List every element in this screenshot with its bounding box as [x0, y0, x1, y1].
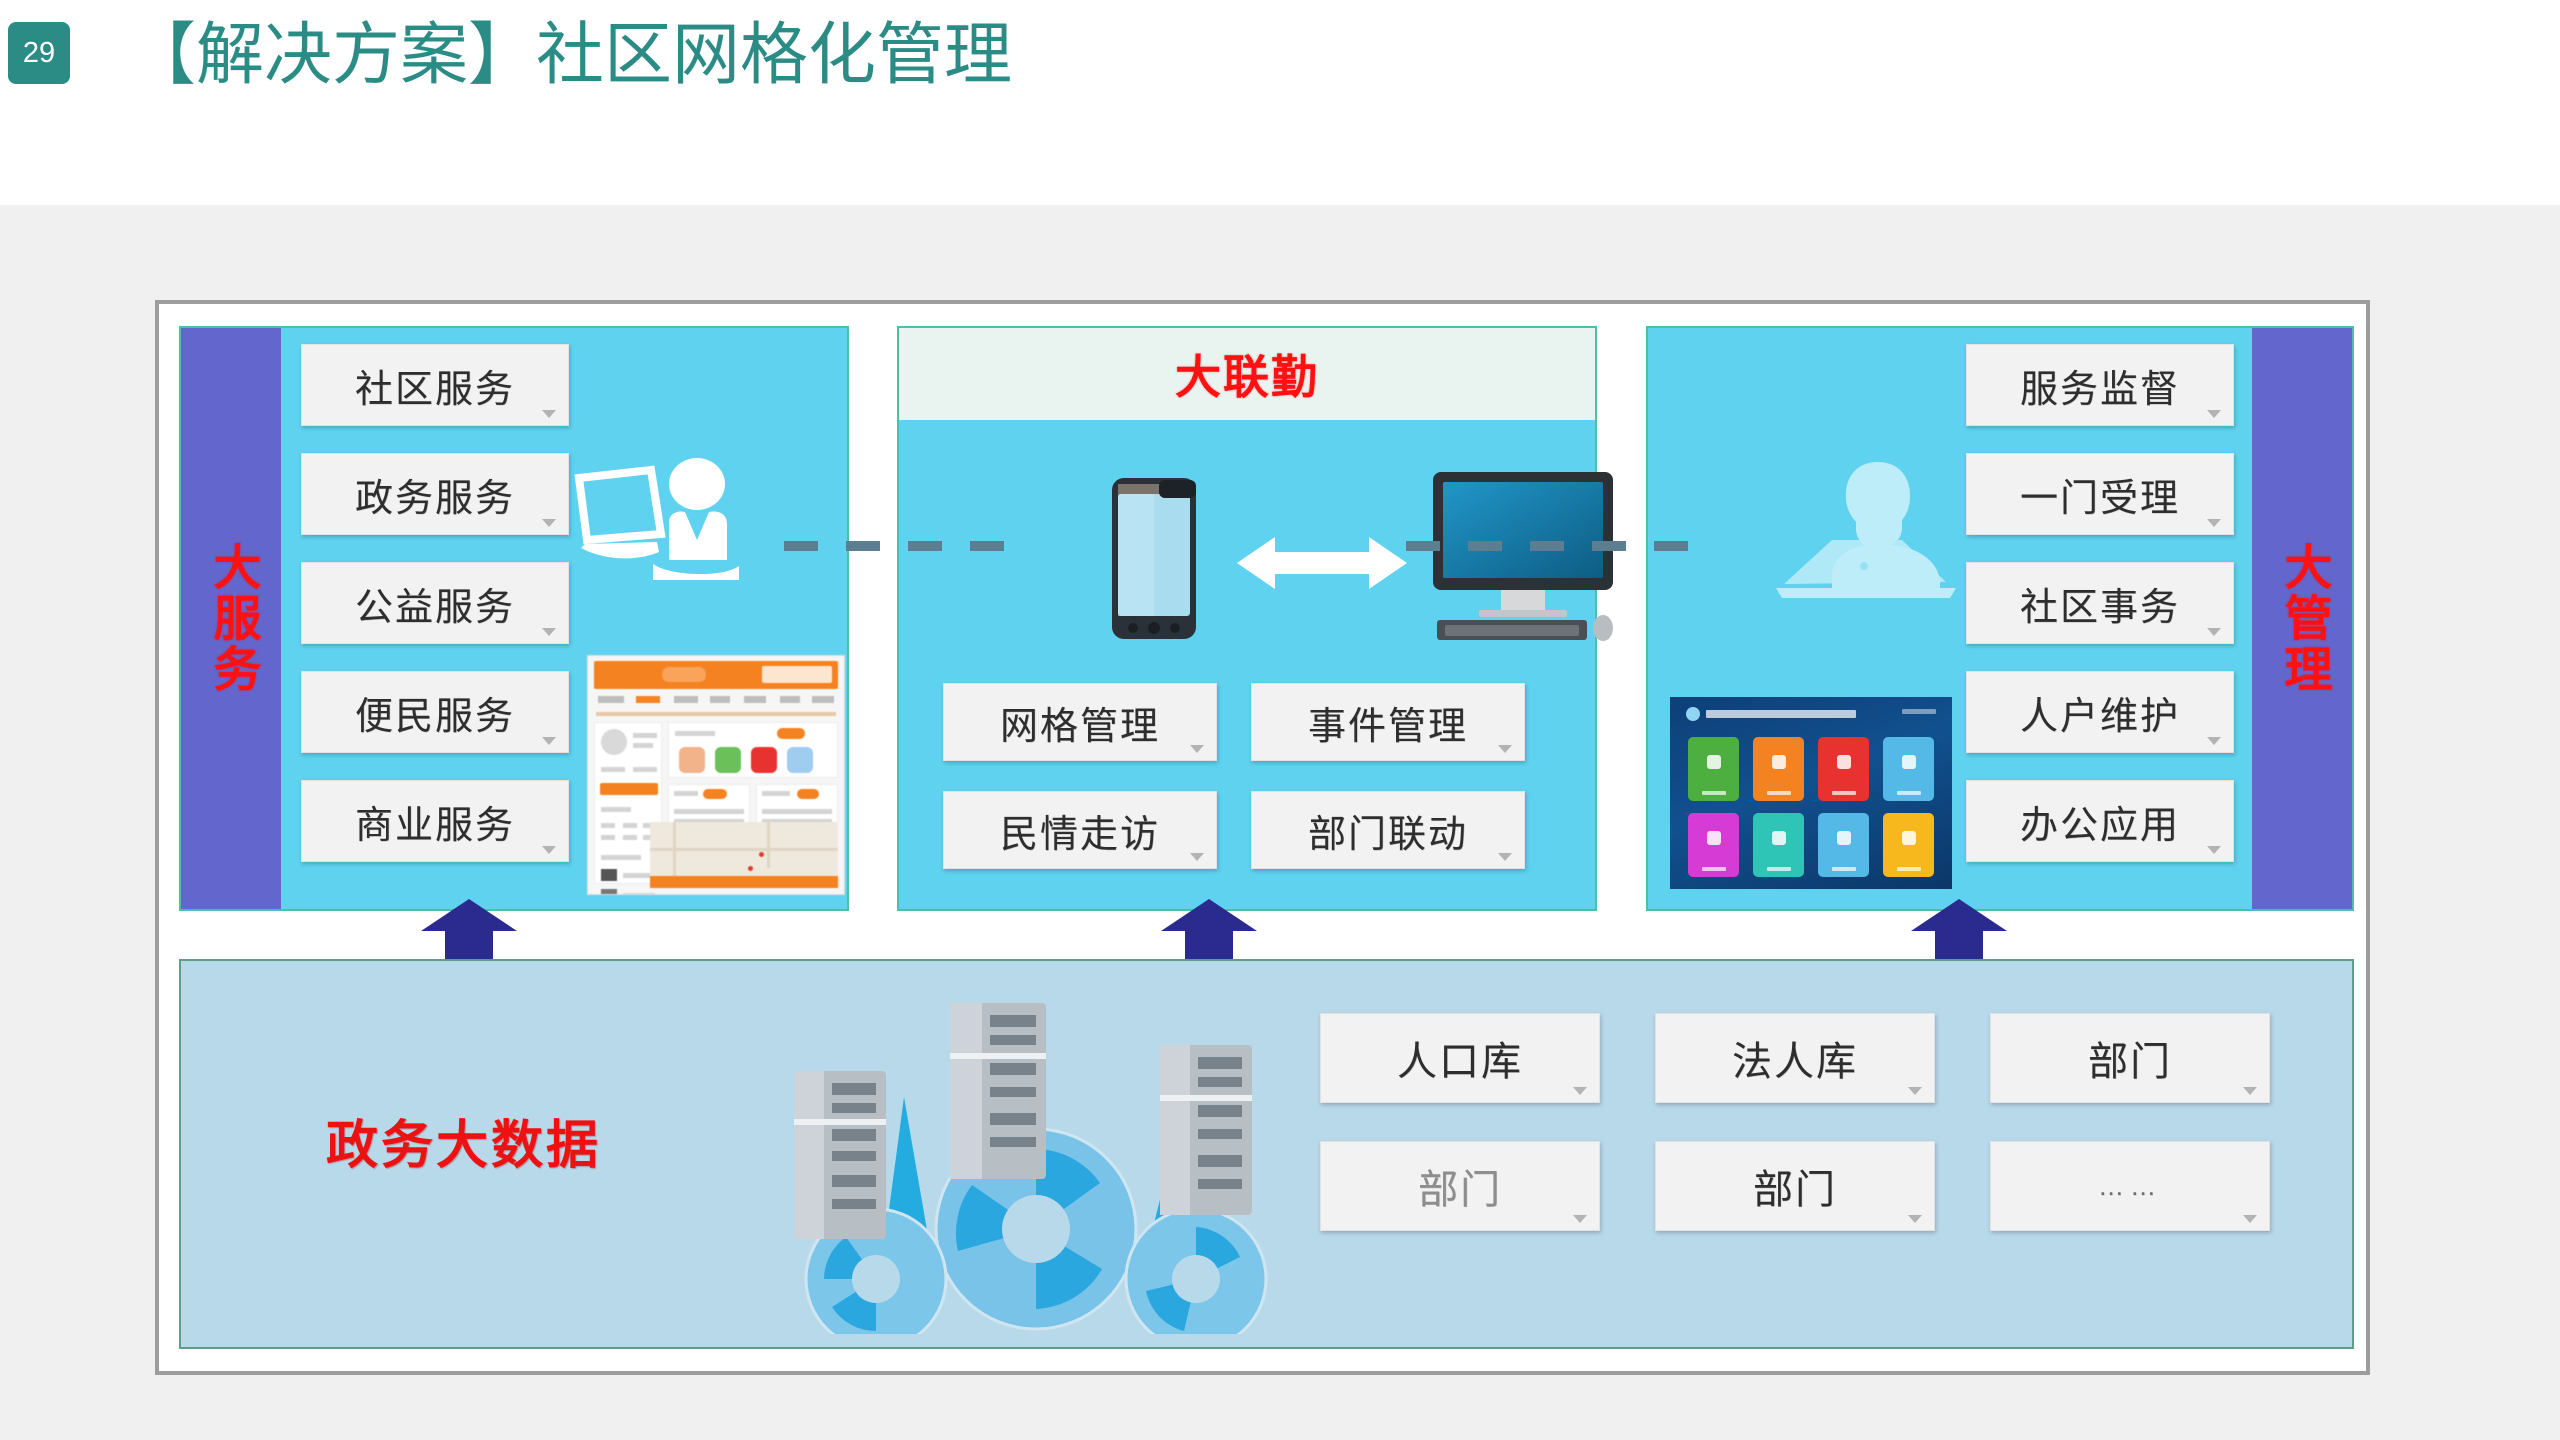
big-service-item-list: 社区服务 政务服务 公益服务 便民服务 商业服务	[301, 344, 569, 889]
management-item-service-supervision-label: 服务监督	[2020, 358, 2180, 413]
db-item-department-2[interactable]: 部门	[1320, 1141, 1600, 1231]
joint-duty-header-band: 大联勤	[899, 328, 1595, 420]
slide-number-badge: 29	[8, 22, 70, 84]
dashed-connector-left	[784, 541, 1014, 551]
smartphone-icon	[1109, 476, 1199, 641]
joint-duty-item-dept-coordination[interactable]: 部门联动	[1251, 791, 1525, 869]
chevron-down-icon	[1498, 745, 1512, 753]
chevron-down-icon	[1908, 1087, 1922, 1095]
slide-number: 29	[23, 37, 55, 70]
service-item-government[interactable]: 政务服务	[301, 453, 569, 535]
big-service-label: 大服务	[206, 542, 257, 695]
big-management-label: 大管理	[2277, 542, 2328, 695]
diagram-canvas: 大服务 社区服务 政务服务 公益服务 便民服务 商业服务	[159, 304, 2366, 1371]
desktop-computer-icon	[1423, 470, 1623, 645]
db-item-more[interactable]: ……	[1990, 1141, 2270, 1231]
db-item-department-2-label: 部门	[1418, 1157, 1502, 1215]
management-item-service-supervision[interactable]: 服务监督	[1966, 344, 2234, 426]
management-item-community-affairs[interactable]: 社区事务	[1966, 562, 2234, 644]
db-item-population[interactable]: 人口库	[1320, 1013, 1600, 1103]
db-item-population-label: 人口库	[1397, 1029, 1523, 1087]
diagram-frame: 大服务 社区服务 政务服务 公益服务 便民服务 商业服务	[155, 300, 2370, 1375]
big-service-side-bar: 大服务	[181, 328, 281, 909]
chevron-down-icon	[1190, 853, 1204, 861]
db-item-legal-entity-label: 法人库	[1732, 1029, 1858, 1087]
service-item-public-welfare-label: 公益服务	[355, 576, 515, 631]
chevron-down-icon	[542, 846, 556, 854]
service-item-community-label: 社区服务	[355, 358, 515, 413]
app-tile	[1883, 813, 1934, 877]
service-item-government-label: 政务服务	[355, 467, 515, 522]
joint-duty-item-grid-management[interactable]: 网格管理	[943, 683, 1217, 761]
management-item-office-application[interactable]: 办公应用	[1966, 780, 2234, 862]
app-tile	[1753, 737, 1804, 801]
db-item-department-3-label: 部门	[1753, 1157, 1837, 1215]
database-grid: 人口库 法人库 部门 部门 部门 ……	[1320, 1013, 2300, 1231]
dashed-connector-right	[1406, 541, 1696, 551]
app-tile	[1818, 813, 1869, 877]
management-item-one-door-acceptance-label: 一门受理	[2020, 467, 2180, 522]
service-item-convenience-label: 便民服务	[355, 685, 515, 740]
chevron-down-icon	[2243, 1215, 2257, 1223]
joint-duty-label: 大联勤	[1175, 341, 1319, 407]
db-item-legal-entity[interactable]: 法人库	[1655, 1013, 1935, 1103]
joint-duty-item-event-management[interactable]: 事件管理	[1251, 683, 1525, 761]
panel-big-management: 大管理	[1646, 326, 2354, 911]
db-item-department-3[interactable]: 部门	[1655, 1141, 1935, 1231]
joint-duty-item-dept-coordination-label: 部门联动	[1308, 803, 1468, 858]
government-big-data-title: 政务大数据	[326, 1103, 601, 1178]
db-item-department-1-label: 部门	[2088, 1029, 2172, 1087]
joint-duty-item-event-management-label: 事件管理	[1308, 695, 1468, 750]
chevron-down-icon	[2243, 1087, 2257, 1095]
db-item-more-label: ……	[2098, 1171, 2162, 1202]
management-item-household-maintenance[interactable]: 人户维护	[1966, 671, 2234, 753]
page-title: 【解决方案】社区网格化管理	[128, 10, 1012, 100]
panel-government-big-data: 政务大数据	[179, 959, 2354, 1349]
big-management-side-bar: 大管理	[2252, 328, 2352, 909]
person-at-computer-icon	[573, 456, 753, 586]
joint-duty-item-public-visit[interactable]: 民情走访	[943, 791, 1217, 869]
service-item-commercial[interactable]: 商业服务	[301, 780, 569, 862]
app-tile-grid	[1688, 737, 1934, 877]
chevron-down-icon	[2207, 628, 2221, 636]
app-tile	[1883, 737, 1934, 801]
chevron-down-icon	[1908, 1215, 1922, 1223]
chevron-down-icon	[542, 737, 556, 745]
management-item-office-application-label: 办公应用	[2020, 794, 2180, 849]
service-item-convenience[interactable]: 便民服务	[301, 671, 569, 753]
management-item-household-maintenance-label: 人户维护	[2020, 685, 2180, 740]
joint-duty-item-public-visit-label: 民情走访	[1000, 803, 1160, 858]
service-item-public-welfare[interactable]: 公益服务	[301, 562, 569, 644]
service-item-community[interactable]: 社区服务	[301, 344, 569, 426]
chevron-down-icon	[2207, 410, 2221, 418]
big-management-item-list: 服务监督 一门受理 社区事务 人户维护 办公应用	[1966, 344, 2234, 889]
chevron-down-icon	[1498, 853, 1512, 861]
app-tile	[1688, 737, 1739, 801]
app-tile	[1753, 813, 1804, 877]
person-with-laptop-icon	[1760, 456, 1980, 606]
panel-joint-duty: 大联勤	[897, 326, 1597, 911]
service-item-commercial-label: 商业服务	[355, 794, 515, 849]
chevron-down-icon	[2207, 846, 2221, 854]
map-thumbnail	[650, 822, 838, 888]
chevron-down-icon	[1573, 1087, 1587, 1095]
db-item-department-1[interactable]: 部门	[1990, 1013, 2270, 1103]
chevron-down-icon	[1190, 745, 1204, 753]
chevron-down-icon	[2207, 519, 2221, 527]
app-tile	[1818, 737, 1869, 801]
bidirectional-arrow-icon	[1237, 533, 1407, 593]
management-item-community-affairs-label: 社区事务	[2020, 576, 2180, 631]
joint-duty-item-grid-management-label: 网格管理	[1000, 695, 1160, 750]
joint-duty-item-list: 网格管理 事件管理 民情走访 部门联动	[943, 683, 1555, 869]
panel-big-service: 大服务 社区服务 政务服务 公益服务 便民服务 商业服务	[179, 326, 849, 911]
page-header: 29 【解决方案】社区网格化管理	[0, 0, 2560, 205]
government-app-grid-thumbnail	[1670, 697, 1952, 889]
chevron-down-icon	[2207, 737, 2221, 745]
chevron-down-icon	[542, 410, 556, 418]
app-tile	[1688, 813, 1739, 877]
community-service-webpage-thumbnail	[587, 655, 845, 895]
management-item-one-door-acceptance[interactable]: 一门受理	[1966, 453, 2234, 535]
chevron-down-icon	[542, 628, 556, 636]
chevron-down-icon	[542, 519, 556, 527]
chevron-down-icon	[1573, 1215, 1587, 1223]
server-cloud-illustration	[736, 979, 1336, 1334]
